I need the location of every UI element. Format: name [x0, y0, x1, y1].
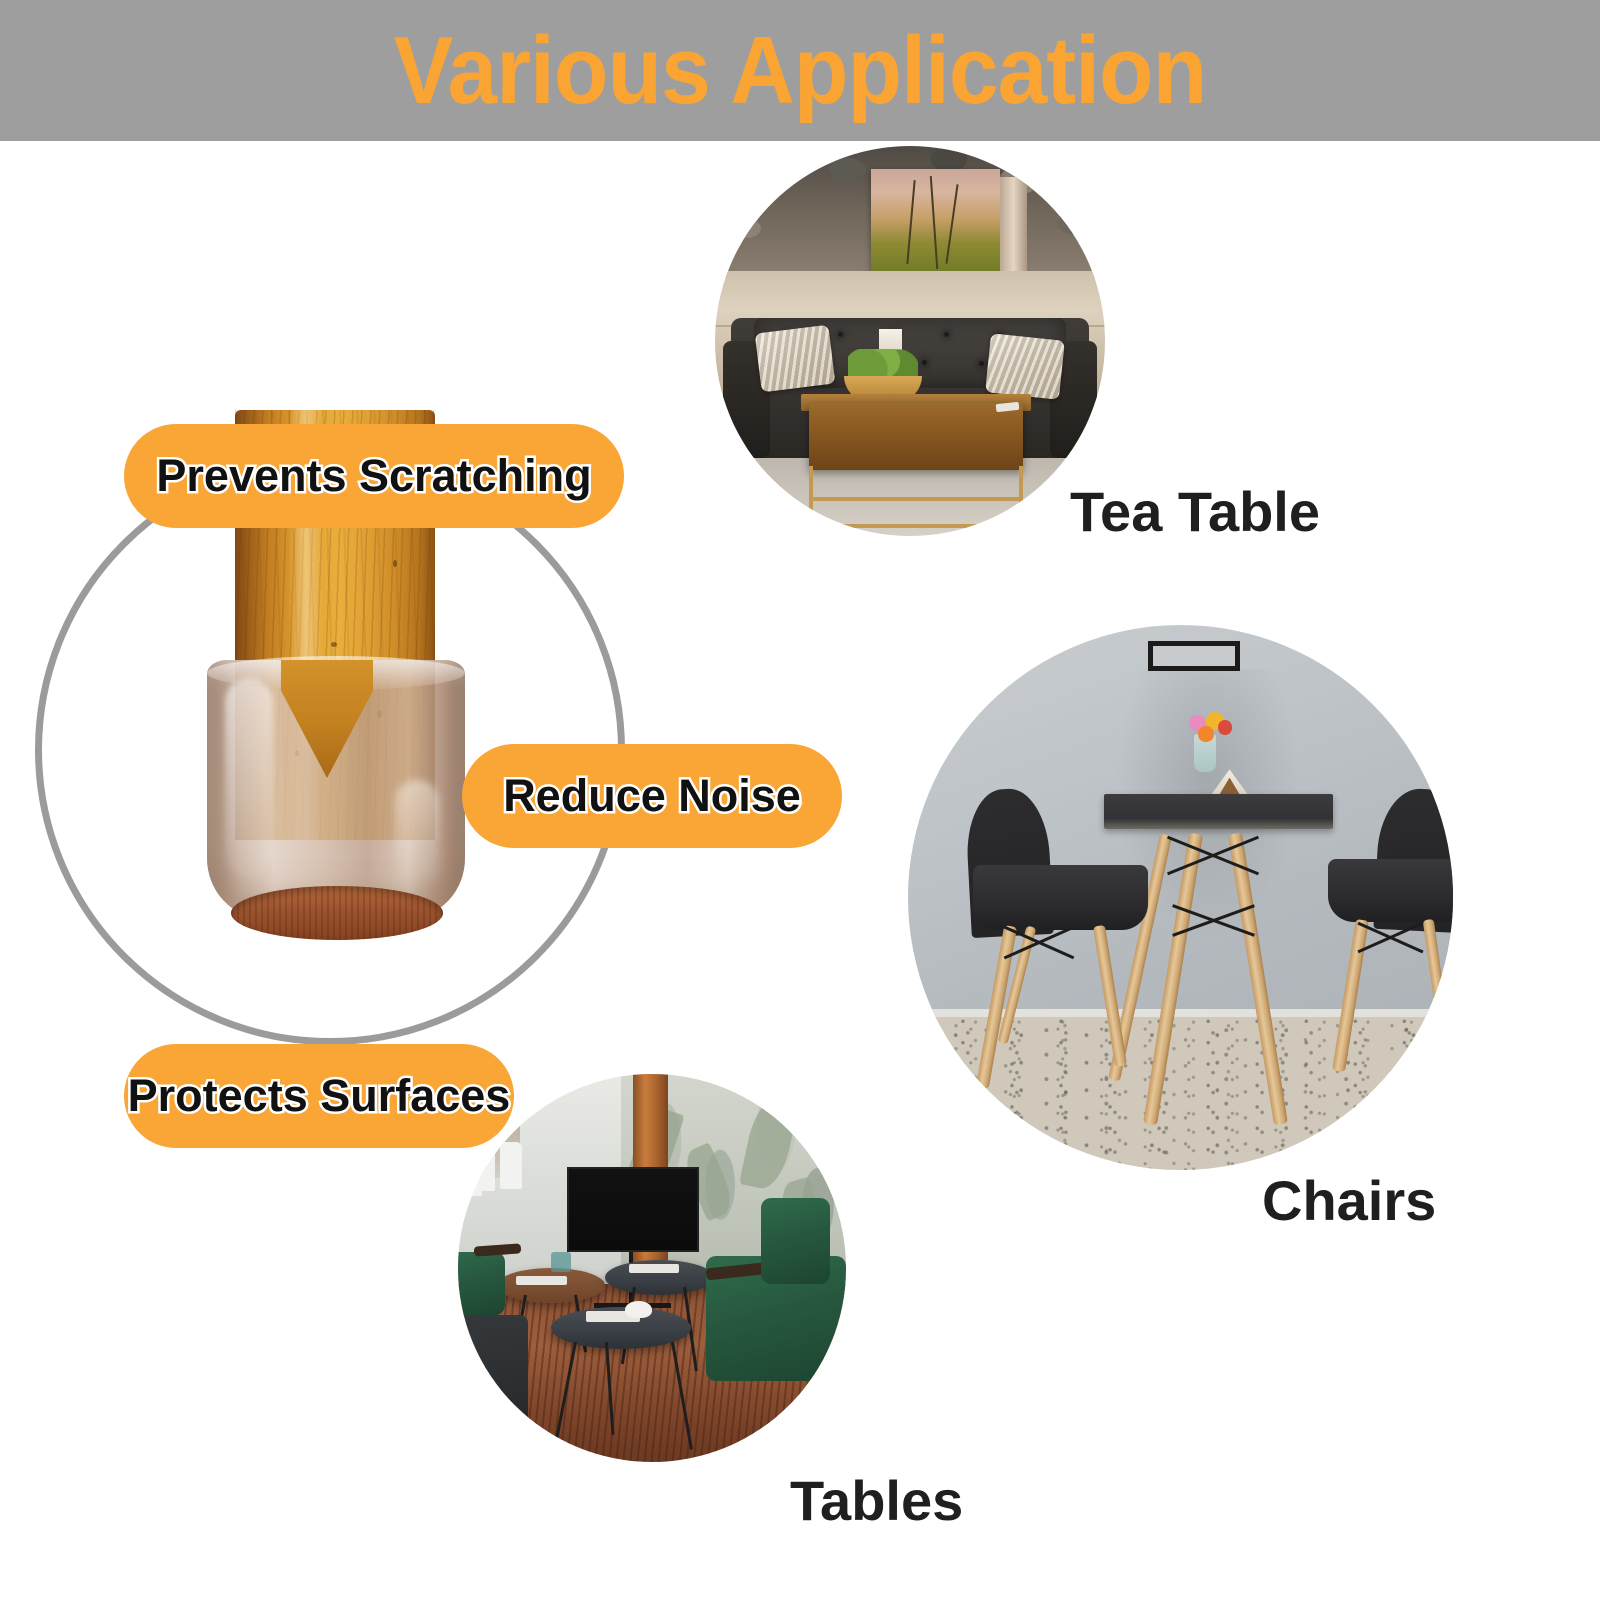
badge-protects-surfaces: Protects Surfaces [124, 1044, 514, 1148]
badge-label: Prevents Scratching [156, 450, 591, 502]
side-table-wood [497, 1268, 606, 1303]
throw-pillow-left [755, 325, 836, 392]
teapot [625, 1301, 652, 1318]
badge-prevents-scratching: Prevents Scratching [124, 424, 624, 528]
dark-chair-foreground [458, 1315, 528, 1439]
cap-bottom-pad [231, 886, 443, 940]
wall-pillar [1000, 177, 1027, 278]
green-armchair-left [458, 1252, 505, 1314]
badge-reduce-noise: Reduce Noise [462, 744, 842, 848]
artwork-reed [945, 184, 958, 264]
page-title: Various Application [56, 6, 1544, 136]
papers [629, 1264, 679, 1273]
flower-orange [1198, 726, 1213, 741]
application-photo-chairs [908, 625, 1453, 1170]
green-armchair-rear [761, 1198, 831, 1283]
chair-left-seat [973, 865, 1147, 930]
outdoor-chair [500, 1142, 521, 1189]
badge-label: Reduce Noise [503, 770, 801, 822]
cap-pad-texture [231, 886, 443, 940]
magazine [516, 1276, 566, 1286]
caption-tables: Tables [790, 1468, 963, 1533]
cap-highlight-right [395, 780, 439, 890]
caption-chairs: Chairs [1262, 1168, 1436, 1233]
dining-table-top [1104, 794, 1333, 829]
coffee-table-body [809, 403, 1024, 469]
wood-speck [331, 642, 337, 647]
television [567, 1167, 699, 1252]
coffee-table-shelf [809, 497, 1024, 501]
lounge-scene [458, 1074, 846, 1462]
framed-artwork [871, 169, 1000, 274]
living-room-scene [715, 146, 1105, 536]
dining-nook-scene [908, 625, 1453, 1170]
outdoor-chair [465, 1155, 483, 1196]
flower-red [1218, 720, 1232, 734]
throw-pillow-right [985, 333, 1065, 399]
application-photo-tables [458, 1074, 846, 1462]
drinking-glass [551, 1252, 570, 1271]
badge-label: Protects Surfaces [128, 1070, 511, 1122]
artwork-reed [906, 180, 915, 264]
wood-speck [393, 560, 397, 567]
application-photo-tea-table [715, 146, 1105, 536]
chair-right-seat [1328, 859, 1453, 922]
caption-tea-table: Tea Table [1070, 479, 1320, 544]
artwork-reed [930, 176, 938, 269]
cap-highlight-left [225, 678, 273, 878]
wall-picture-frame [1148, 641, 1241, 671]
